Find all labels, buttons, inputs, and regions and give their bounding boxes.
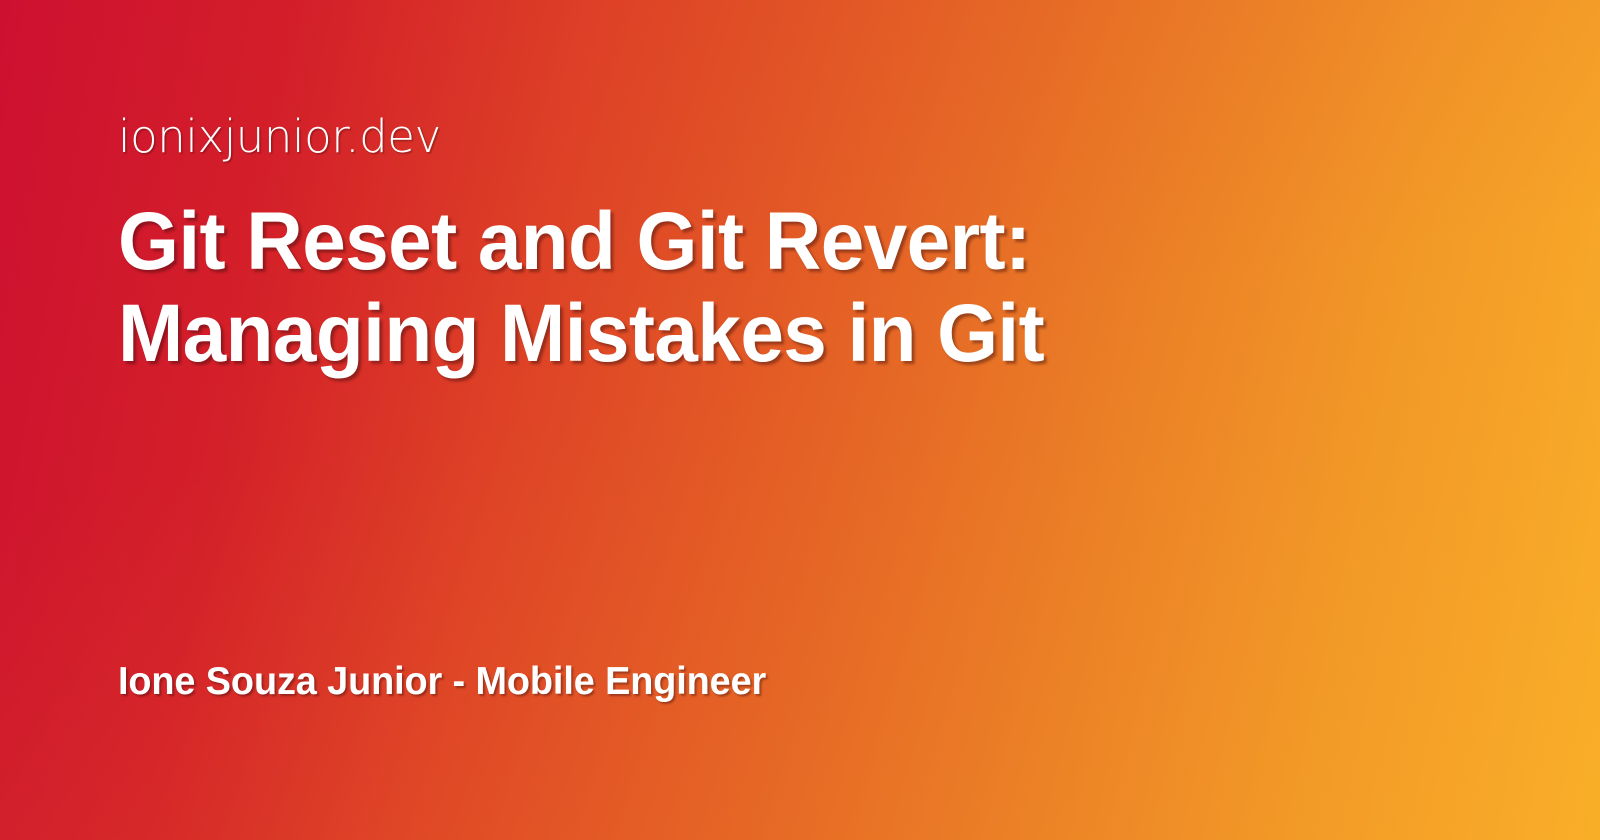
site-name: ionixjunior.dev [118,113,441,160]
page-title-line-1: Git Reset and Git Revert: [118,196,1169,288]
social-share-card: ionixjunior.dev Git Reset and Git Revert… [0,0,1600,840]
page-title: Git Reset and Git Revert: Managing Mista… [118,196,1169,380]
card-content: ionixjunior.dev Git Reset and Git Revert… [118,0,1458,840]
page-title-line-2: Managing Mistakes in Git [118,288,1169,380]
author-byline: Ione Souza Junior - Mobile Engineer [118,661,766,704]
